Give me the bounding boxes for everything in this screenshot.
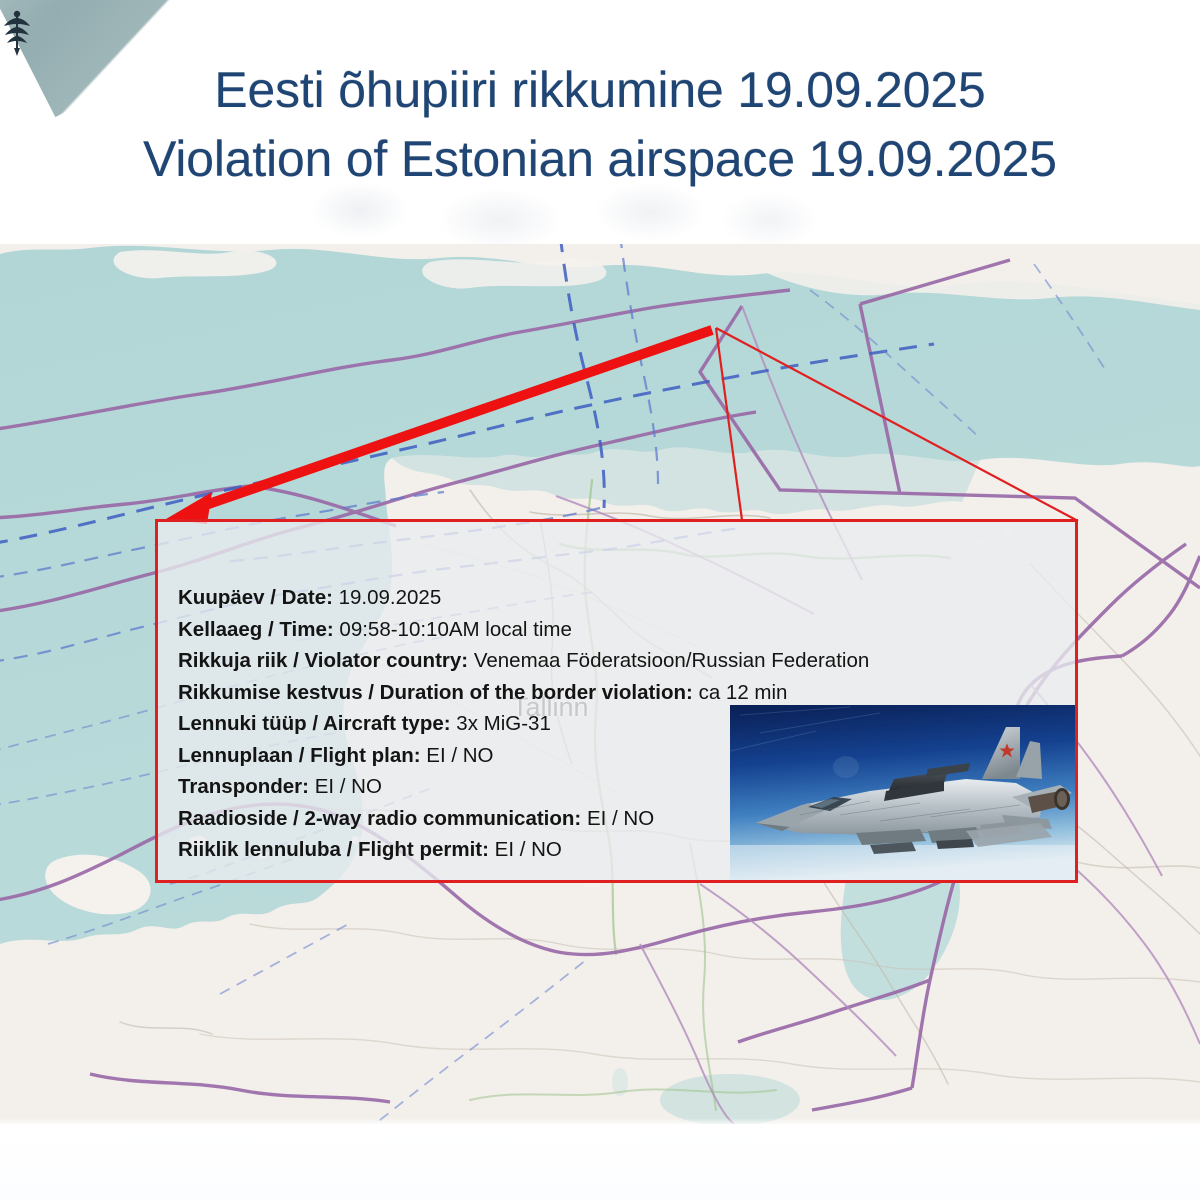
detail-row-date: Kuupäev / Date: 19.09.2025 — [178, 582, 869, 614]
detail-row-duration: Rikkumise kestvus / Duration of the bord… — [178, 677, 869, 709]
slide-root: Tallinn Valmiera Eesti õhupiiri rikkumin… — [0, 0, 1200, 1201]
detail-value-duration: ca 12 min — [699, 681, 788, 704]
detail-value-date: 19.09.2025 — [339, 586, 442, 609]
detail-label-duration: Rikkumise kestvus / Duration of the bord… — [178, 681, 693, 704]
detail-label-violator: Rikkuja riik / Violator country: — [178, 649, 468, 672]
detail-label-date: Kuupäev / Date: — [178, 586, 333, 609]
detail-label-time: Kellaaeg / Time: — [178, 618, 334, 641]
detail-value-flight-plan: EI / NO — [426, 744, 493, 767]
island-saaremaa — [0, 966, 233, 1059]
detail-label-permit: Riiklik lennuluba / Flight permit: — [178, 838, 489, 861]
detail-value-aircraft: 3x MiG-31 — [456, 712, 551, 735]
detail-value-permit: EI / NO — [495, 838, 562, 861]
detail-label-radio: Raadioside / 2-way radio communication: — [178, 807, 581, 830]
title-estonian: Eesti õhupiiri rikkumine 19.09.2025 — [0, 56, 1200, 125]
detail-label-flight-plan: Lennuplaan / Flight plan: — [178, 744, 421, 767]
detail-label-aircraft: Lennuki tüüp / Aircraft type: — [178, 712, 451, 735]
detail-row-violator: Rikkuja riik / Violator country: Venemaa… — [178, 645, 869, 677]
detail-value-transponder: EI / NO — [315, 775, 382, 798]
title-english: Violation of Estonian airspace 19.09.202… — [0, 125, 1200, 194]
detail-value-radio: EI / NO — [587, 807, 654, 830]
detail-row-time: Kellaaeg / Time: 09:58-10:10AM local tim… — [178, 614, 869, 646]
mig-31-illustration — [730, 705, 1075, 880]
mig-31-aircraft-photo — [730, 705, 1075, 880]
title-header: Eesti õhupiiri rikkumine 19.09.2025 Viol… — [0, 0, 1200, 244]
violation-details-callout: Kuupäev / Date: 19.09.2025 Kellaaeg / Ti… — [155, 519, 1078, 883]
detail-value-violator: Venemaa Föderatsioon/Russian Federation — [474, 649, 869, 672]
slide-title-block: Eesti õhupiiri rikkumine 19.09.2025 Viol… — [0, 56, 1200, 194]
detail-label-transponder: Transponder: — [178, 775, 309, 798]
slide-bottom-margin — [0, 1118, 1200, 1201]
detail-value-time: 09:58-10:10AM local time — [339, 618, 571, 641]
